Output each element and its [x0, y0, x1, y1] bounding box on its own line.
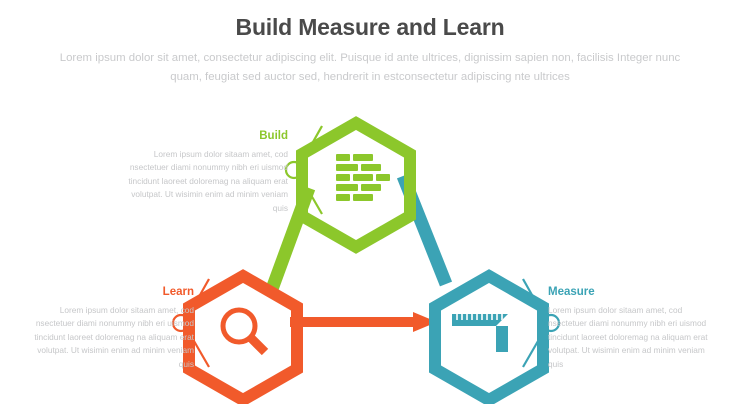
- text-block-learn: Learn Lorem ipsum dolor sitaam amet, cod…: [32, 286, 194, 371]
- text-block-measure: Measure Lorem ipsum dolor sitaam amet, c…: [548, 286, 710, 371]
- ruler-icon: [452, 314, 508, 352]
- magnifier-icon: [223, 310, 265, 352]
- hexagon-learn[interactable]: [189, 276, 297, 400]
- heading-learn: Learn: [32, 286, 194, 300]
- infographic-page: Build Measure and Learn Lorem ipsum dolo…: [0, 0, 740, 416]
- text-block-build: Build Lorem ipsum dolor sitaam amet, cod…: [126, 130, 288, 215]
- subtitle-line-1: Lorem ipsum dolor sit amet, consectetur …: [60, 52, 614, 64]
- page-subtitle: Lorem ipsum dolor sit amet, consectetur …: [46, 49, 694, 86]
- brick-wall-icon: [336, 154, 390, 201]
- hexagon-build[interactable]: [302, 123, 410, 247]
- heading-build: Build: [126, 130, 288, 144]
- connector-learn-to-measure: [290, 312, 437, 332]
- header: Build Measure and Learn Lorem ipsum dolo…: [0, 14, 740, 86]
- hexagon-measure[interactable]: [435, 276, 543, 400]
- body-measure: Lorem ipsum dolor sitaam amet, cod nsect…: [548, 304, 710, 372]
- page-title: Build Measure and Learn: [0, 14, 740, 40]
- hexagon-triangle-diagram: Build Lorem ipsum dolor sitaam amet, cod…: [0, 104, 740, 404]
- body-learn: Lorem ipsum dolor sitaam amet, cod nsect…: [32, 304, 194, 372]
- body-build: Lorem ipsum dolor sitaam amet, cod nsect…: [126, 148, 288, 216]
- heading-measure: Measure: [548, 286, 710, 300]
